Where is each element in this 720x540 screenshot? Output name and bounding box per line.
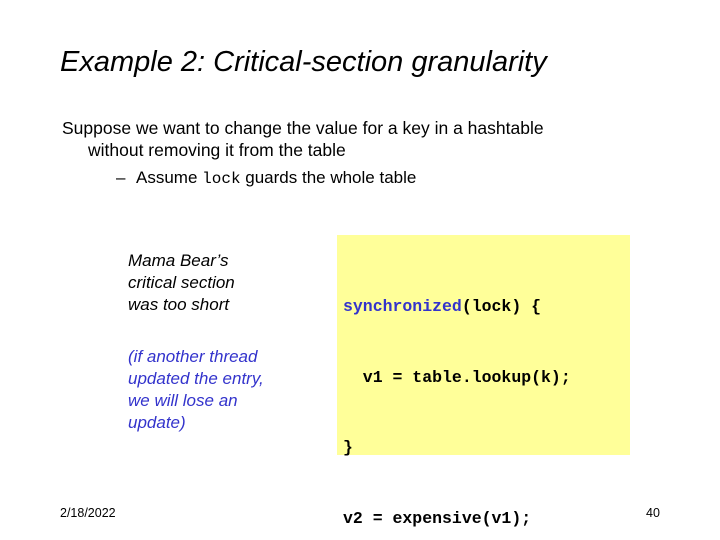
code-line-1-rest: (lock) {: [462, 297, 541, 316]
annotation-black-line1: Mama Bear’s: [128, 250, 318, 272]
code-keyword-synchronized-1: synchronized: [343, 297, 462, 316]
bullet-level2-text-after: guards the whole table: [241, 168, 417, 187]
code-line-2: v1 = table.lookup(k);: [343, 366, 630, 390]
footer-date: 2/18/2022: [60, 506, 116, 520]
code-block-panel: synchronized(lock) { v1 = table.lookup(k…: [337, 235, 630, 455]
footer-page-number: 40: [646, 506, 660, 520]
code-line-1: synchronized(lock) {: [343, 295, 630, 319]
slide-canvas: Example 2: Critical-section granularity …: [0, 0, 720, 540]
page-title: Example 2: Critical-section granularity: [60, 45, 670, 79]
annotation-blue-line1: (if another thread: [128, 346, 324, 368]
annotation-blue-line3: we will lose an: [128, 390, 324, 412]
annotation-black-text: Mama Bear’s critical section was too sho…: [128, 250, 318, 316]
body-bullet-list: Suppose we want to change the value for …: [62, 117, 662, 190]
bullet-level2: – Assume lock guards the whole table: [62, 167, 662, 190]
bullet-level2-text-before: Assume: [136, 168, 202, 187]
annotation-black-line3: was too short: [128, 294, 318, 316]
bullet-level2-text: Assume lock guards the whole table: [116, 167, 416, 190]
bullet-level1-line2: without removing it from the table: [62, 139, 662, 161]
code-line-4: v2 = expensive(v1);: [343, 507, 630, 531]
inline-code-lock: lock: [202, 170, 240, 188]
bullet-level1: Suppose we want to change the value for …: [62, 117, 662, 161]
dash-bullet-icon: –: [116, 167, 125, 189]
code-line-3: }: [343, 436, 630, 460]
code-listing: synchronized(lock) { v1 = table.lookup(k…: [343, 248, 630, 540]
annotation-blue-line2: updated the entry,: [128, 368, 324, 390]
annotation-black-line2: critical section: [128, 272, 318, 294]
annotation-blue-line4: update): [128, 412, 324, 434]
bullet-level1-line1: Suppose we want to change the value for …: [62, 118, 544, 138]
annotation-blue-text: (if another thread updated the entry, we…: [128, 346, 324, 434]
